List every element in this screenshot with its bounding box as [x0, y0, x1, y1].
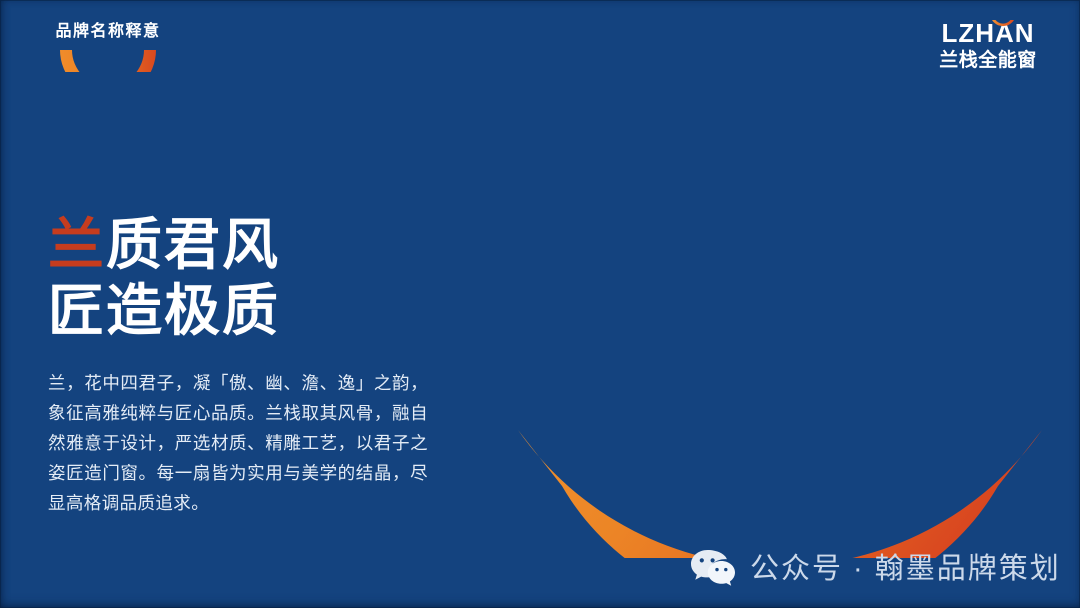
- section-label: 品牌名称释意: [38, 24, 178, 77]
- wechat-icon: [690, 547, 736, 592]
- headline-accent-char: 兰: [48, 213, 106, 276]
- section-label-text: 品牌名称释意: [38, 24, 178, 40]
- logo-wordmark-text: LZHAN: [928, 20, 1048, 46]
- wechat-attribution: 公众号 · 翰墨品牌策划: [690, 547, 1061, 592]
- headline-line-1-rest: 质君风: [106, 213, 280, 276]
- page-title: 兰质君风 匠造极质: [48, 212, 280, 343]
- headline-line-1: 兰质君风: [48, 212, 280, 278]
- wechat-attribution-text: 公众号 · 翰墨品牌策划: [750, 555, 1061, 584]
- logo-chinese-name: 兰栈全能窗: [928, 51, 1048, 70]
- headline-line-2: 匠造极质: [48, 278, 280, 344]
- smile-arc-icon: [38, 46, 178, 77]
- smile-arc-decoration: [500, 378, 1060, 558]
- body-paragraph: 兰，花中四君子，凝「傲、幽、澹、逸」之韵，象征高雅纯粹与匠心品质。兰栈取其风骨，…: [48, 368, 428, 518]
- slide-canvas: 品牌名称释意 LZHAN: [0, 0, 1080, 608]
- brand-logo: LZHAN 兰栈全能窗: [928, 20, 1048, 70]
